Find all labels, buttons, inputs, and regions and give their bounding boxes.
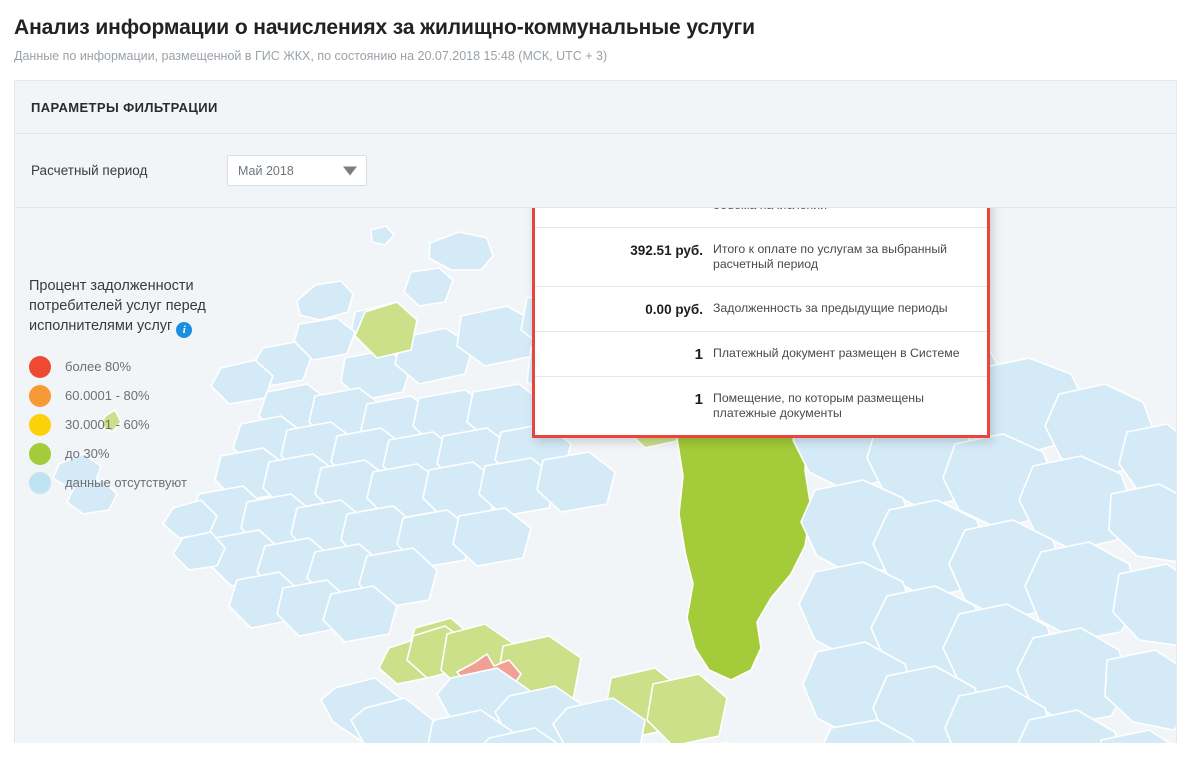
filter-panel-header: ПАРАМЕТРЫ ФИЛЬТРАЦИИ	[15, 81, 1176, 134]
info-icon[interactable]: i	[176, 322, 192, 338]
legend-item-label: 30.0001 - 60%	[65, 417, 150, 432]
legend-item-label: 60.0001 - 80%	[65, 388, 150, 403]
period-select[interactable]: Май 2018	[227, 155, 367, 186]
tooltip-row: 1Помещение, по которым размещены платежн…	[535, 376, 987, 435]
tooltip-row-description: Платежный документ размещен в Системе	[713, 345, 960, 362]
tooltip-rows: 0.00%Процент задолженности потребителей …	[535, 208, 987, 435]
filter-panel: ПАРАМЕТРЫ ФИЛЬТРАЦИИ Расчетный период Ма…	[14, 80, 1177, 743]
filter-panel-body: Расчетный период Май 2018	[15, 134, 1176, 208]
legend-items: более 80%60.0001 - 80%30.0001 - 60%до 30…	[29, 352, 259, 497]
legend-color-swatch	[29, 472, 51, 494]
period-label: Расчетный период	[31, 163, 227, 178]
legend-color-swatch	[29, 443, 51, 465]
legend-item-label: более 80%	[65, 359, 131, 374]
tooltip-row-value: 1	[553, 345, 713, 363]
filter-panel-heading: ПАРАМЕТРЫ ФИЛЬТРАЦИИ	[31, 100, 218, 115]
tooltip-row-value: 0.00 руб.	[553, 300, 713, 318]
tooltip-row-description: Задолженность за предыдущие периоды	[713, 300, 948, 317]
period-select-value: Май 2018	[238, 164, 294, 178]
legend-item[interactable]: до 30%	[29, 439, 259, 468]
legend-title: Процент задолженности потребителей услуг…	[29, 276, 259, 338]
tooltip-row: 0.00 руб.Задолженность за предыдущие пер…	[535, 286, 987, 331]
tooltip-row-value: 392.51 руб.	[553, 241, 713, 259]
legend-item[interactable]: более 80%	[29, 352, 259, 381]
page-header: Анализ информации о начислениях за жилищ…	[0, 0, 1191, 64]
chevron-down-icon	[343, 166, 357, 175]
map-area[interactable]: Процент задолженности потребителей услуг…	[15, 208, 1176, 743]
tooltip-row-description: Процент задолженности потребителей услуг…	[713, 208, 969, 214]
legend-color-swatch	[29, 356, 51, 378]
legend-item[interactable]: 60.0001 - 80%	[29, 381, 259, 410]
legend-item-label: данные отсутствуют	[65, 475, 187, 490]
tooltip-row: 392.51 руб.Итого к оплате по услугам за …	[535, 227, 987, 286]
legend-color-swatch	[29, 385, 51, 407]
page-title: Анализ информации о начислениях за жилищ…	[14, 14, 1177, 42]
legend-item-label: до 30%	[65, 446, 109, 461]
tooltip-row-description: Помещение, по которым размещены платежны…	[713, 390, 969, 422]
tooltip-row: 0.00%Процент задолженности потребителей …	[535, 208, 987, 227]
tooltip-row-description: Итого к оплате по услугам за выбранный р…	[713, 241, 969, 273]
tooltip-row-value: 1	[553, 390, 713, 408]
legend-item[interactable]: 30.0001 - 60%	[29, 410, 259, 439]
map-legend: Процент задолженности потребителей услуг…	[29, 276, 259, 497]
tooltip-row: 1Платежный документ размещен в Системе	[535, 331, 987, 376]
legend-item[interactable]: данные отсутствуют	[29, 468, 259, 497]
region-tooltip-card: КРАСНОЯРСКИЙ КРАЙ 0.00%Процент задолженн…	[532, 208, 990, 438]
page-subtitle: Данные по информации, размещенной в ГИС …	[14, 48, 1177, 64]
legend-color-swatch	[29, 414, 51, 436]
